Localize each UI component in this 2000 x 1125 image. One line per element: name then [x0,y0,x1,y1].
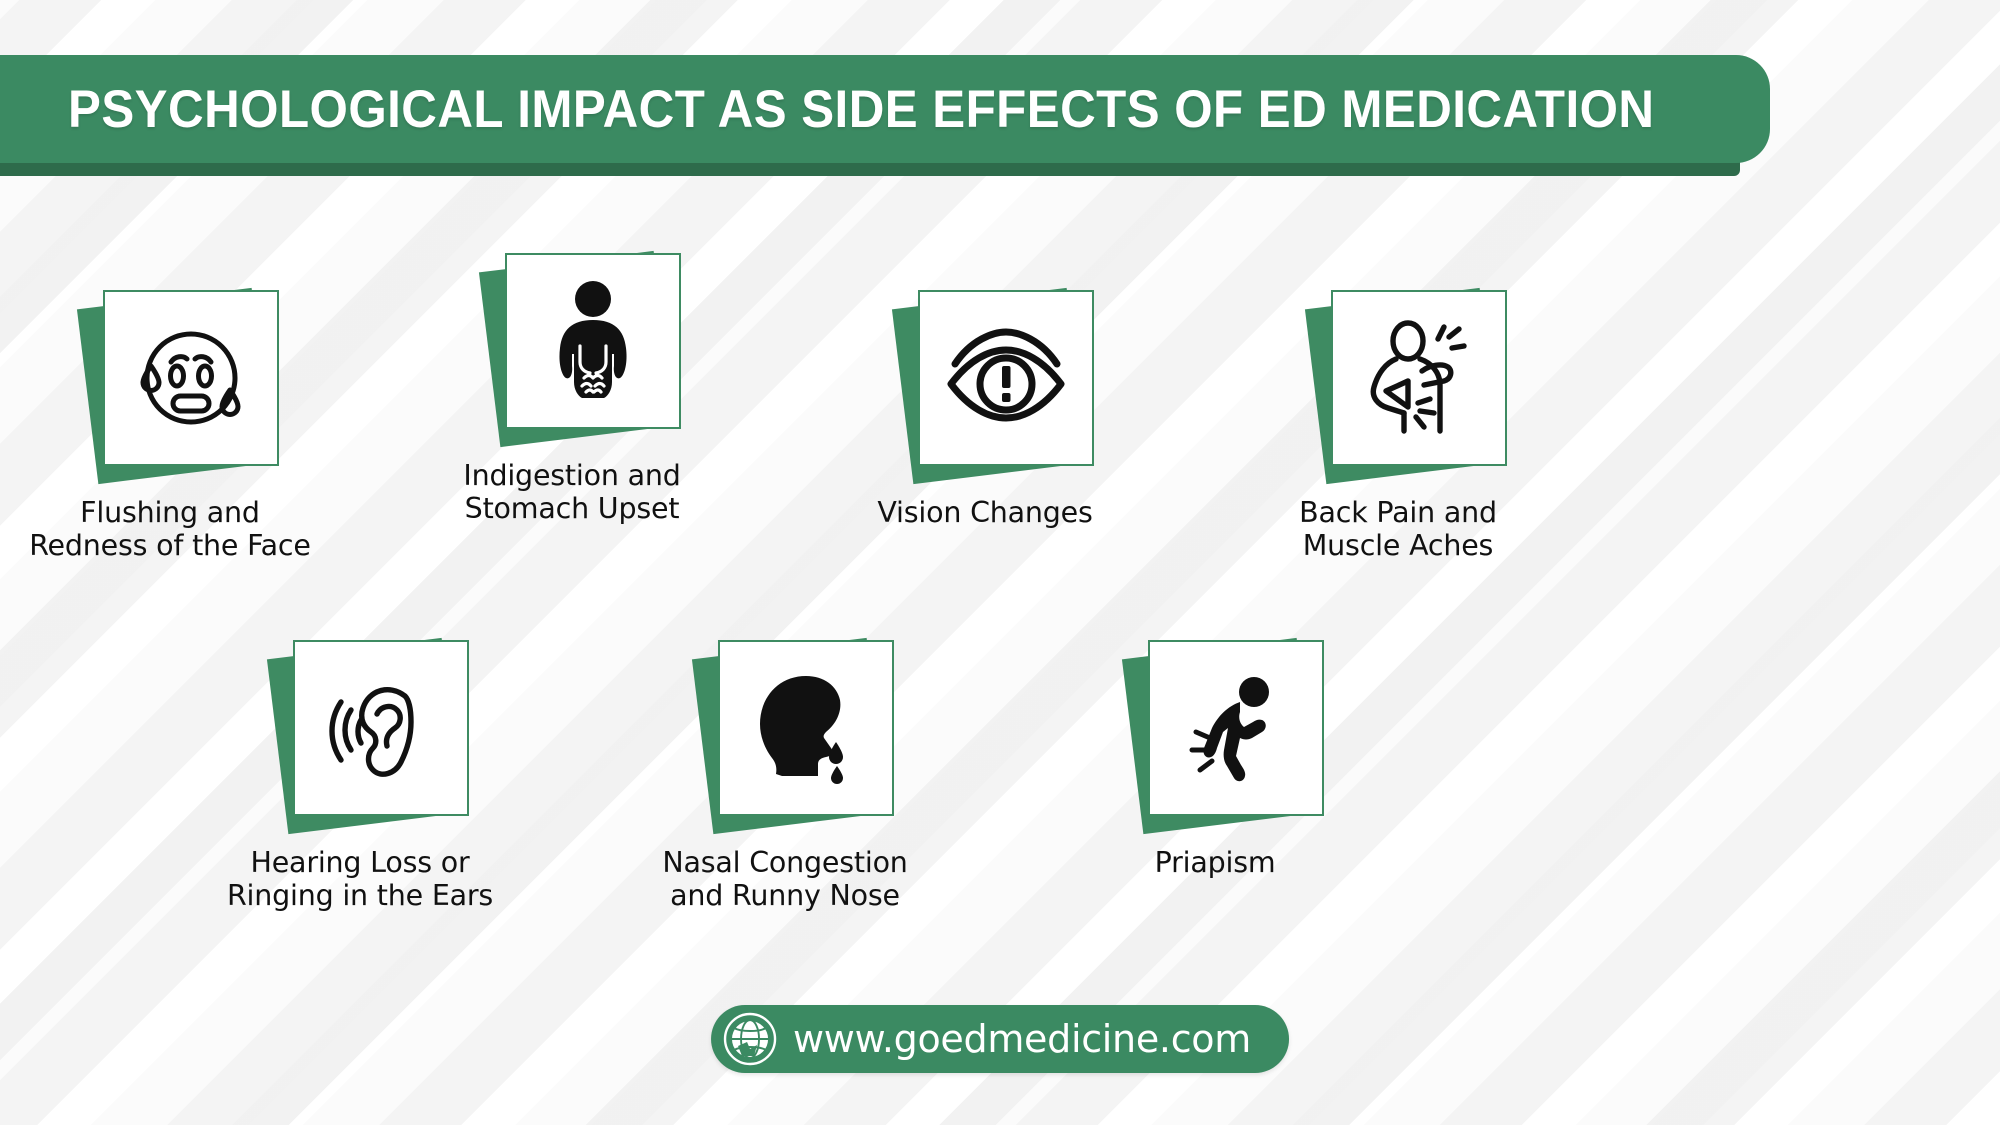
card-label: Hearing Loss or Ringing in the Ears [200,846,520,913]
infographic-page: PSYCHOLOGICAL IMPACT AS SIDE EFFECTS OF … [0,0,2000,1125]
card-label: Vision Changes [825,496,1145,529]
card-label: Indigestion and Stomach Upset [412,459,732,526]
sweating-face-icon [129,316,253,440]
header-bar: PSYCHOLOGICAL IMPACT AS SIDE EFFECTS OF … [0,55,1770,163]
card-tile [1122,640,1308,826]
card-label: Priapism [1055,846,1375,879]
tile-front [718,640,894,816]
tile-front [1331,290,1507,466]
bent-person-pain-icon [1174,666,1298,790]
card-tile [77,290,263,476]
card-priapism[interactable]: Priapism [1055,640,1375,879]
card-label: Back Pain and Muscle Aches [1238,496,1558,563]
card-label: Nasal Congestion and Runny Nose [625,846,945,913]
tile-front [1148,640,1324,816]
card-hearing[interactable]: Hearing Loss or Ringing in the Ears [200,640,520,913]
card-backpain[interactable]: Back Pain and Muscle Aches [1238,290,1558,563]
header: PSYCHOLOGICAL IMPACT AS SIDE EFFECTS OF … [0,55,1770,165]
website-url: www.goedmedicine.com [793,1017,1251,1061]
card-tile [1305,290,1491,476]
eye-alert-icon [941,322,1071,434]
card-indigestion[interactable]: Indigestion and Stomach Upset [412,253,732,526]
card-tile [479,253,665,439]
website-badge[interactable]: www.goedmedicine.com [711,1005,1289,1073]
tile-front [103,290,279,466]
ear-soundwaves-icon [319,666,443,790]
card-tile [267,640,453,826]
tile-front [293,640,469,816]
globe-icon [723,1012,777,1066]
runny-nose-head-icon [744,666,868,790]
card-tile [892,290,1078,476]
back-pain-person-icon [1356,315,1482,441]
stomach-ache-person-icon [532,278,654,404]
tile-front [918,290,1094,466]
card-tile [692,640,878,826]
card-nasal[interactable]: Nasal Congestion and Runny Nose [625,640,945,913]
card-flushing[interactable]: Flushing and Redness of the Face [10,290,330,563]
tile-front [505,253,681,429]
page-title: PSYCHOLOGICAL IMPACT AS SIDE EFFECTS OF … [68,79,1654,140]
card-vision[interactable]: Vision Changes [825,290,1145,529]
card-label: Flushing and Redness of the Face [10,496,330,563]
